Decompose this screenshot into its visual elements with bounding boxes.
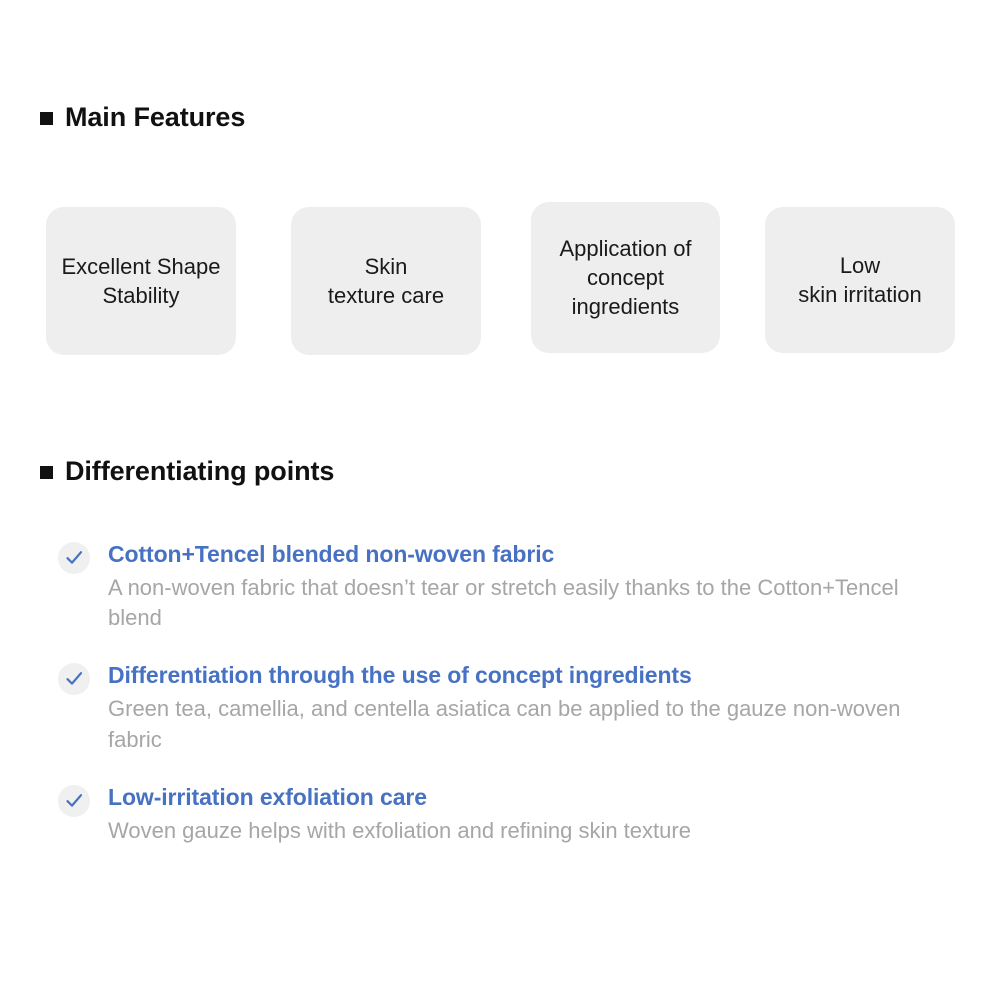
feature-card-excellent-shape-stability[interactable]: Excellent Shape Stability (46, 207, 236, 355)
filled-square-bullet-icon (40, 466, 53, 479)
point-description: Green tea, camellia, and centella asiati… (108, 694, 948, 755)
feature-card-label: Application of concept ingredients (559, 234, 691, 322)
section-heading-main-features: Main Features (40, 102, 245, 133)
feature-card-low-skin-irritation[interactable]: Low skin irritation (765, 207, 955, 353)
differentiating-points-list: Cotton+Tencel blended non-woven fabric A… (58, 540, 958, 846)
feature-card-group: Excellent Shape Stability Skin texture c… (0, 0, 1000, 1000)
check-circle-icon (58, 663, 90, 695)
feature-card-label: Low skin irritation (798, 251, 921, 310)
feature-card-application-of-concept-ingredients[interactable]: Application of concept ingredients (531, 202, 720, 353)
product-feature-slide: Main Features Excellent Shape Stability … (0, 0, 1000, 1000)
point-description: A non-woven fabric that doesn’t tear or … (108, 573, 948, 634)
feature-card-label: Excellent Shape Stability (62, 252, 221, 311)
point-title: Cotton+Tencel blended non-woven fabric (108, 540, 958, 569)
list-item: Cotton+Tencel blended non-woven fabric A… (58, 540, 958, 633)
section-title-main-features: Main Features (65, 102, 245, 133)
point-title: Differentiation through the use of conce… (108, 661, 958, 690)
point-description: Woven gauze helps with exfoliation and r… (108, 816, 948, 846)
check-circle-icon (58, 542, 90, 574)
list-item: Differentiation through the use of conce… (58, 661, 958, 754)
list-item: Low-irritation exfoliation care Woven ga… (58, 783, 958, 846)
feature-card-skin-texture-care[interactable]: Skin texture care (291, 207, 481, 355)
point-title: Low-irritation exfoliation care (108, 783, 958, 812)
section-heading-differentiating-points: Differentiating points (40, 456, 334, 487)
feature-card-label: Skin texture care (328, 252, 444, 311)
section-title-differentiating-points: Differentiating points (65, 456, 334, 487)
check-circle-icon (58, 785, 90, 817)
filled-square-bullet-icon (40, 112, 53, 125)
